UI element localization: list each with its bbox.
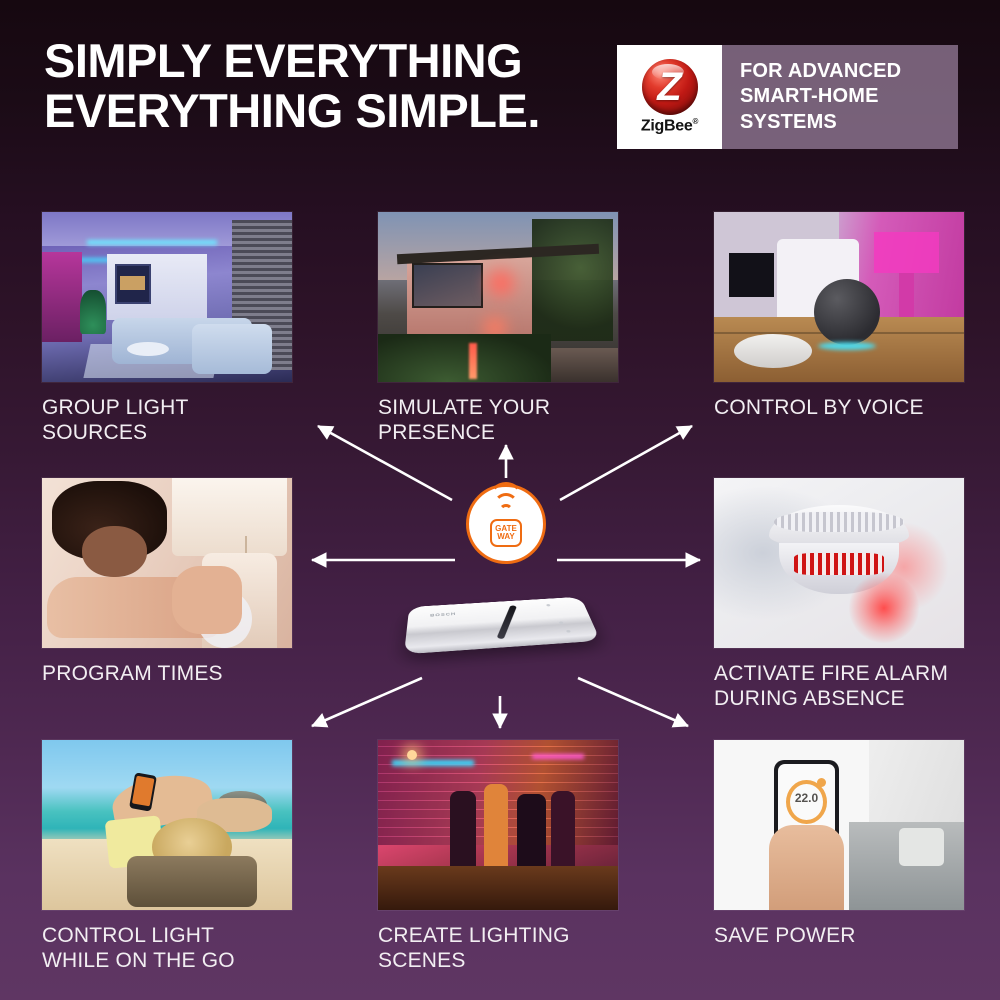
zigbee-wordmark: ZigBee® xyxy=(641,117,698,135)
feature-image-program-times xyxy=(42,478,292,648)
badge-line-1: FOR ADVANCED xyxy=(740,59,958,85)
feature-simulate-your-presence: SIMULATE YOUR PRESENCE xyxy=(378,212,618,446)
feature-image-simulate-your-presence xyxy=(378,212,618,382)
feature-activate-fire-alarm: ACTIVATE FIRE ALARM DURING ABSENCE xyxy=(714,478,964,712)
feature-save-power: 22.0 SAVE POWER xyxy=(714,740,964,949)
badge-line-2: SMART-HOME xyxy=(740,84,958,110)
feature-caption-program-times: PROGRAM TIMES xyxy=(42,662,292,687)
feature-group-light-sources: GROUP LIGHT SOURCES xyxy=(42,212,292,446)
gateway-device-icon: GATE WAY xyxy=(490,519,522,547)
zigbee-trademark: ® xyxy=(692,117,698,126)
arrow-down-right xyxy=(578,678,688,726)
feature-image-activate-fire-alarm xyxy=(714,478,964,648)
controller-led-3 xyxy=(565,630,570,633)
headline-line-1: SIMPLY EVERYTHING xyxy=(44,36,604,86)
controller-body: BOSCH xyxy=(404,597,600,655)
gateway-label-line-2: WAY xyxy=(497,533,515,541)
bosch-smart-home-controller: BOSCH xyxy=(398,578,602,676)
headline-line-2: EVERYTHING SIMPLE. xyxy=(44,86,604,136)
controller-led-2 xyxy=(559,622,564,625)
feature-control-light-on-the-go: CONTROL LIGHT WHILE ON THE GO xyxy=(42,740,292,974)
wifi-arc-inner xyxy=(499,504,513,518)
feature-caption-create-lighting-scenes: CREATE LIGHTING SCENES xyxy=(378,924,618,974)
feature-caption-activate-fire-alarm: ACTIVATE FIRE ALARM DURING ABSENCE xyxy=(714,662,964,712)
zigbee-letter: Z xyxy=(642,59,698,115)
zigbee-wordmark-text: ZigBee xyxy=(641,117,693,134)
feature-image-create-lighting-scenes xyxy=(378,740,618,910)
feature-caption-simulate-your-presence: SIMULATE YOUR PRESENCE xyxy=(378,396,618,446)
bosch-brand-label: BOSCH xyxy=(430,613,456,618)
gateway-icon: GATE WAY xyxy=(466,484,546,564)
feature-caption-save-power: SAVE POWER xyxy=(714,924,964,949)
zigbee-badge-text: FOR ADVANCED SMART-HOME SYSTEMS xyxy=(722,45,958,149)
wifi-signal-icon xyxy=(489,501,523,518)
feature-program-times: PROGRAM TIMES xyxy=(42,478,292,687)
feature-caption-control-light-on-the-go: CONTROL LIGHT WHILE ON THE GO xyxy=(42,924,292,974)
controller-stripe xyxy=(496,605,517,639)
zigbee-sphere-icon: Z xyxy=(642,59,698,115)
feature-image-control-by-voice xyxy=(714,212,964,382)
zigbee-logo: Z ZigBee® xyxy=(617,45,722,149)
controller-led-1 xyxy=(546,604,550,606)
feature-image-control-light-on-the-go xyxy=(42,740,292,910)
feature-caption-group-light-sources: GROUP LIGHT SOURCES xyxy=(42,396,292,446)
infographic-poster: SIMPLY EVERYTHING EVERYTHING SIMPLE. Z Z… xyxy=(0,0,1000,1000)
thermostat-temperature: 22.0 xyxy=(778,791,835,805)
page-title: SIMPLY EVERYTHING EVERYTHING SIMPLE. xyxy=(44,36,604,137)
arrow-down-left xyxy=(312,678,422,726)
feature-create-lighting-scenes: CREATE LIGHTING SCENES xyxy=(378,740,618,974)
feature-control-by-voice: CONTROL BY VOICE xyxy=(714,212,964,421)
feature-caption-control-by-voice: CONTROL BY VOICE xyxy=(714,396,964,421)
feature-image-save-power: 22.0 xyxy=(714,740,964,910)
feature-image-group-light-sources xyxy=(42,212,292,382)
zigbee-badge: Z ZigBee® FOR ADVANCED SMART-HOME SYSTEM… xyxy=(617,45,958,149)
badge-line-3: SYSTEMS xyxy=(740,110,958,136)
